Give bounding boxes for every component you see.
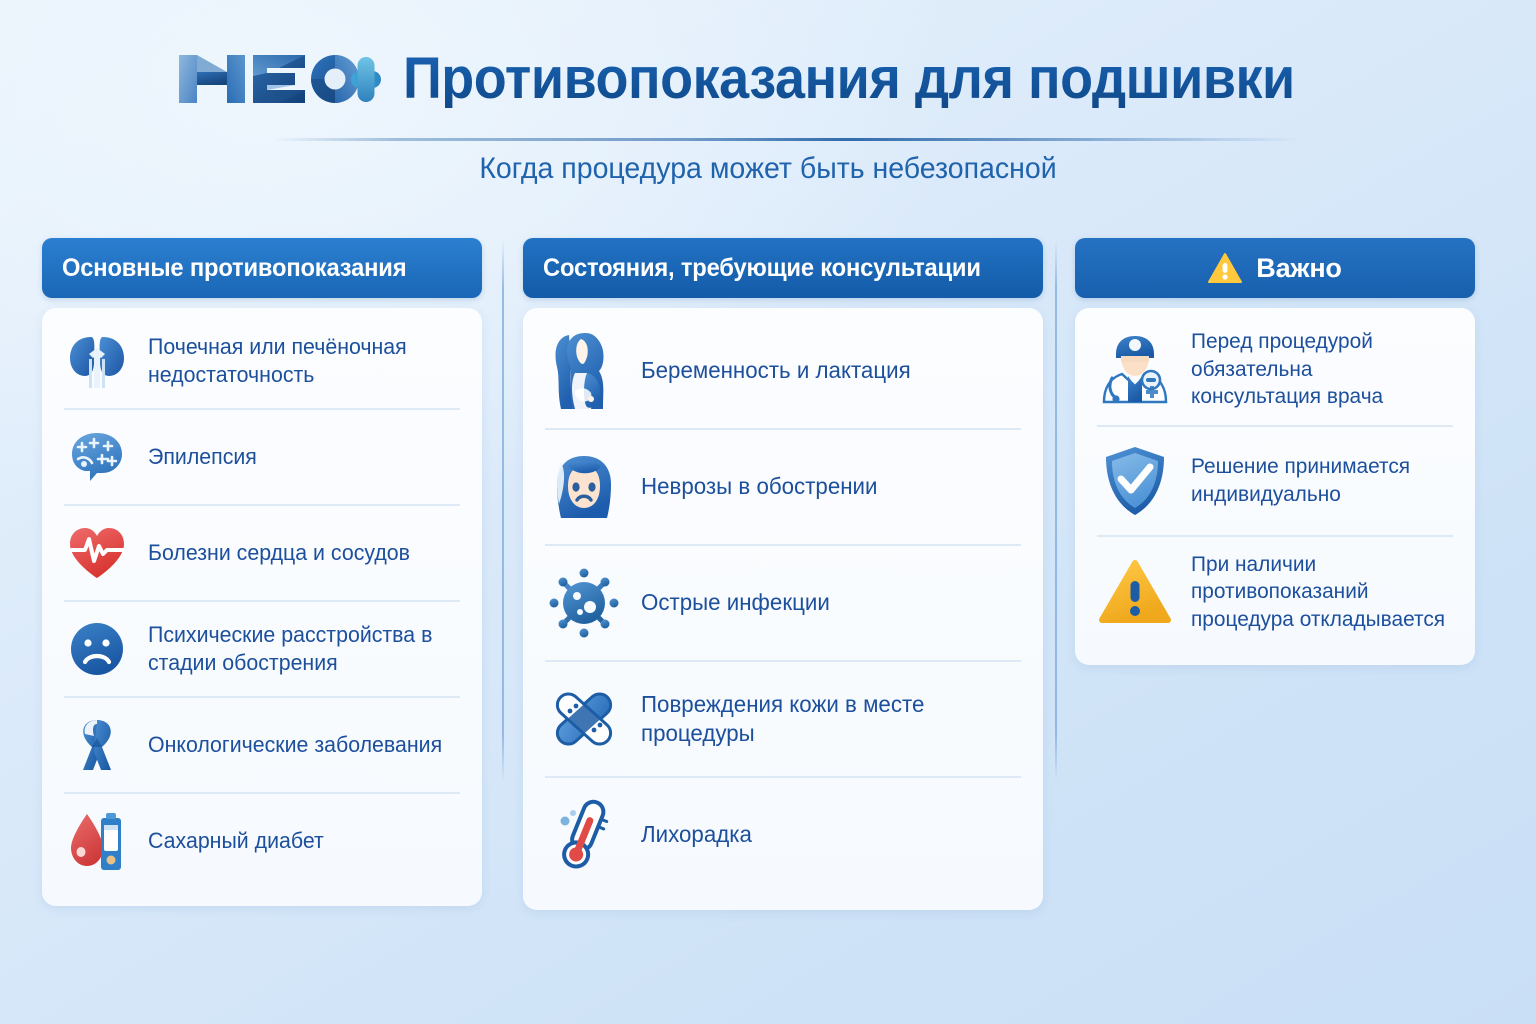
blood-drop-glucometer-icon: [64, 808, 130, 874]
warning-triangle-icon: [1097, 552, 1173, 632]
list-item-label: При наличии противопоказаний процедура о…: [1191, 551, 1445, 634]
columns-area: Основные противопоказания По: [0, 238, 1536, 898]
column-card-3: Перед процедурой обязательна консультаци…: [1075, 308, 1475, 665]
list-item[interactable]: Решение принимается индивидуально: [1097, 427, 1453, 537]
bandages-icon: [545, 676, 623, 762]
kidneys-icon: [64, 328, 130, 394]
shield-check-icon: [1097, 441, 1173, 521]
list-item-label: Эпилепсия: [148, 443, 257, 471]
sad-face-icon: [64, 616, 130, 682]
awareness-ribbon-icon: [64, 712, 130, 778]
list-item-label: Повреждения кожи в месте процедуры: [641, 690, 1010, 749]
list-item-label: Острые инфекции: [641, 588, 830, 617]
list-item[interactable]: При наличии противопоказаний процедура о…: [1097, 537, 1453, 648]
list-item-label: Почечная или печёночная недостаточность: [148, 333, 451, 389]
pregnant-woman-icon: [545, 328, 623, 414]
list-item[interactable]: Перед процедурой обязательна консультаци…: [1097, 314, 1453, 427]
title-row: Противопоказания для подшивки: [0, 43, 1536, 115]
column-divider-1: [502, 240, 504, 782]
list-item-label: Решение принимается индивидуально: [1191, 453, 1445, 508]
list-item[interactable]: Почечная или печёночная недостаточность: [64, 314, 460, 410]
column-main-contraindications: Основные противопоказания По: [42, 238, 482, 906]
list-item-label: Психические расстройства в стадии обостр…: [148, 621, 451, 677]
list-item[interactable]: Болезни сердца и сосудов: [64, 506, 460, 602]
column-header-3: Важно: [1075, 238, 1475, 298]
column-important: Важно: [1075, 238, 1475, 665]
column-conditions-requiring-consultation: Состояния, требующие консультации: [523, 238, 1043, 910]
column-title-3: Важно: [1256, 253, 1341, 284]
virus-icon: [545, 560, 623, 646]
list-item-label: Неврозы в обострении: [641, 472, 877, 501]
list-item[interactable]: Лихорадка: [545, 778, 1021, 892]
list-item-label: Онкологические заболевания: [148, 731, 442, 759]
column-title-1: Основные противопоказания: [62, 254, 406, 283]
list-item[interactable]: Повреждения кожи в месте процедуры: [545, 662, 1021, 778]
brain-icon: [64, 424, 130, 490]
neo-plus-logo: [175, 43, 381, 115]
list-item-label: Болезни сердца и сосудов: [148, 539, 410, 567]
heart-pulse-icon: [64, 520, 130, 586]
page-header: Противопоказания для подшивки Когда проц…: [0, 0, 1536, 205]
thermometer-icon: [545, 792, 623, 878]
doctor-icon: [1097, 329, 1173, 409]
title-divider: [272, 138, 1302, 141]
list-item[interactable]: Острые инфекции: [545, 546, 1021, 662]
list-item-label: Беременность и лактация: [641, 356, 911, 385]
column-divider-2: [1055, 240, 1057, 782]
column-title-2: Состояния, требующие консультации: [543, 254, 981, 283]
list-item-label: Лихорадка: [641, 820, 752, 849]
column-header-2: Состояния, требующие консультации: [523, 238, 1043, 298]
page-subtitle: Когда процедура может быть небезопасной: [38, 152, 1497, 186]
list-item[interactable]: Беременность и лактация: [545, 314, 1021, 430]
column-card-1: Почечная или печёночная недостаточность: [42, 308, 482, 906]
column-header-1: Основные противопоказания: [42, 238, 482, 298]
page-title: Противопоказания для подшивки: [403, 50, 1295, 108]
list-item[interactable]: Эпилепсия: [64, 410, 460, 506]
list-item[interactable]: Сахарный диабет: [64, 794, 460, 888]
sad-woman-icon: [545, 444, 623, 530]
list-item[interactable]: Онкологические заболевания: [64, 698, 460, 794]
list-item-label: Сахарный диабет: [148, 827, 324, 855]
list-item[interactable]: Неврозы в обострении: [545, 430, 1021, 546]
warning-triangle-icon: [1208, 253, 1242, 284]
column-card-2: Беременность и лактация: [523, 308, 1043, 910]
list-item[interactable]: Психические расстройства в стадии обостр…: [64, 602, 460, 698]
list-item-label: Перед процедурой обязательна консультаци…: [1191, 328, 1445, 411]
